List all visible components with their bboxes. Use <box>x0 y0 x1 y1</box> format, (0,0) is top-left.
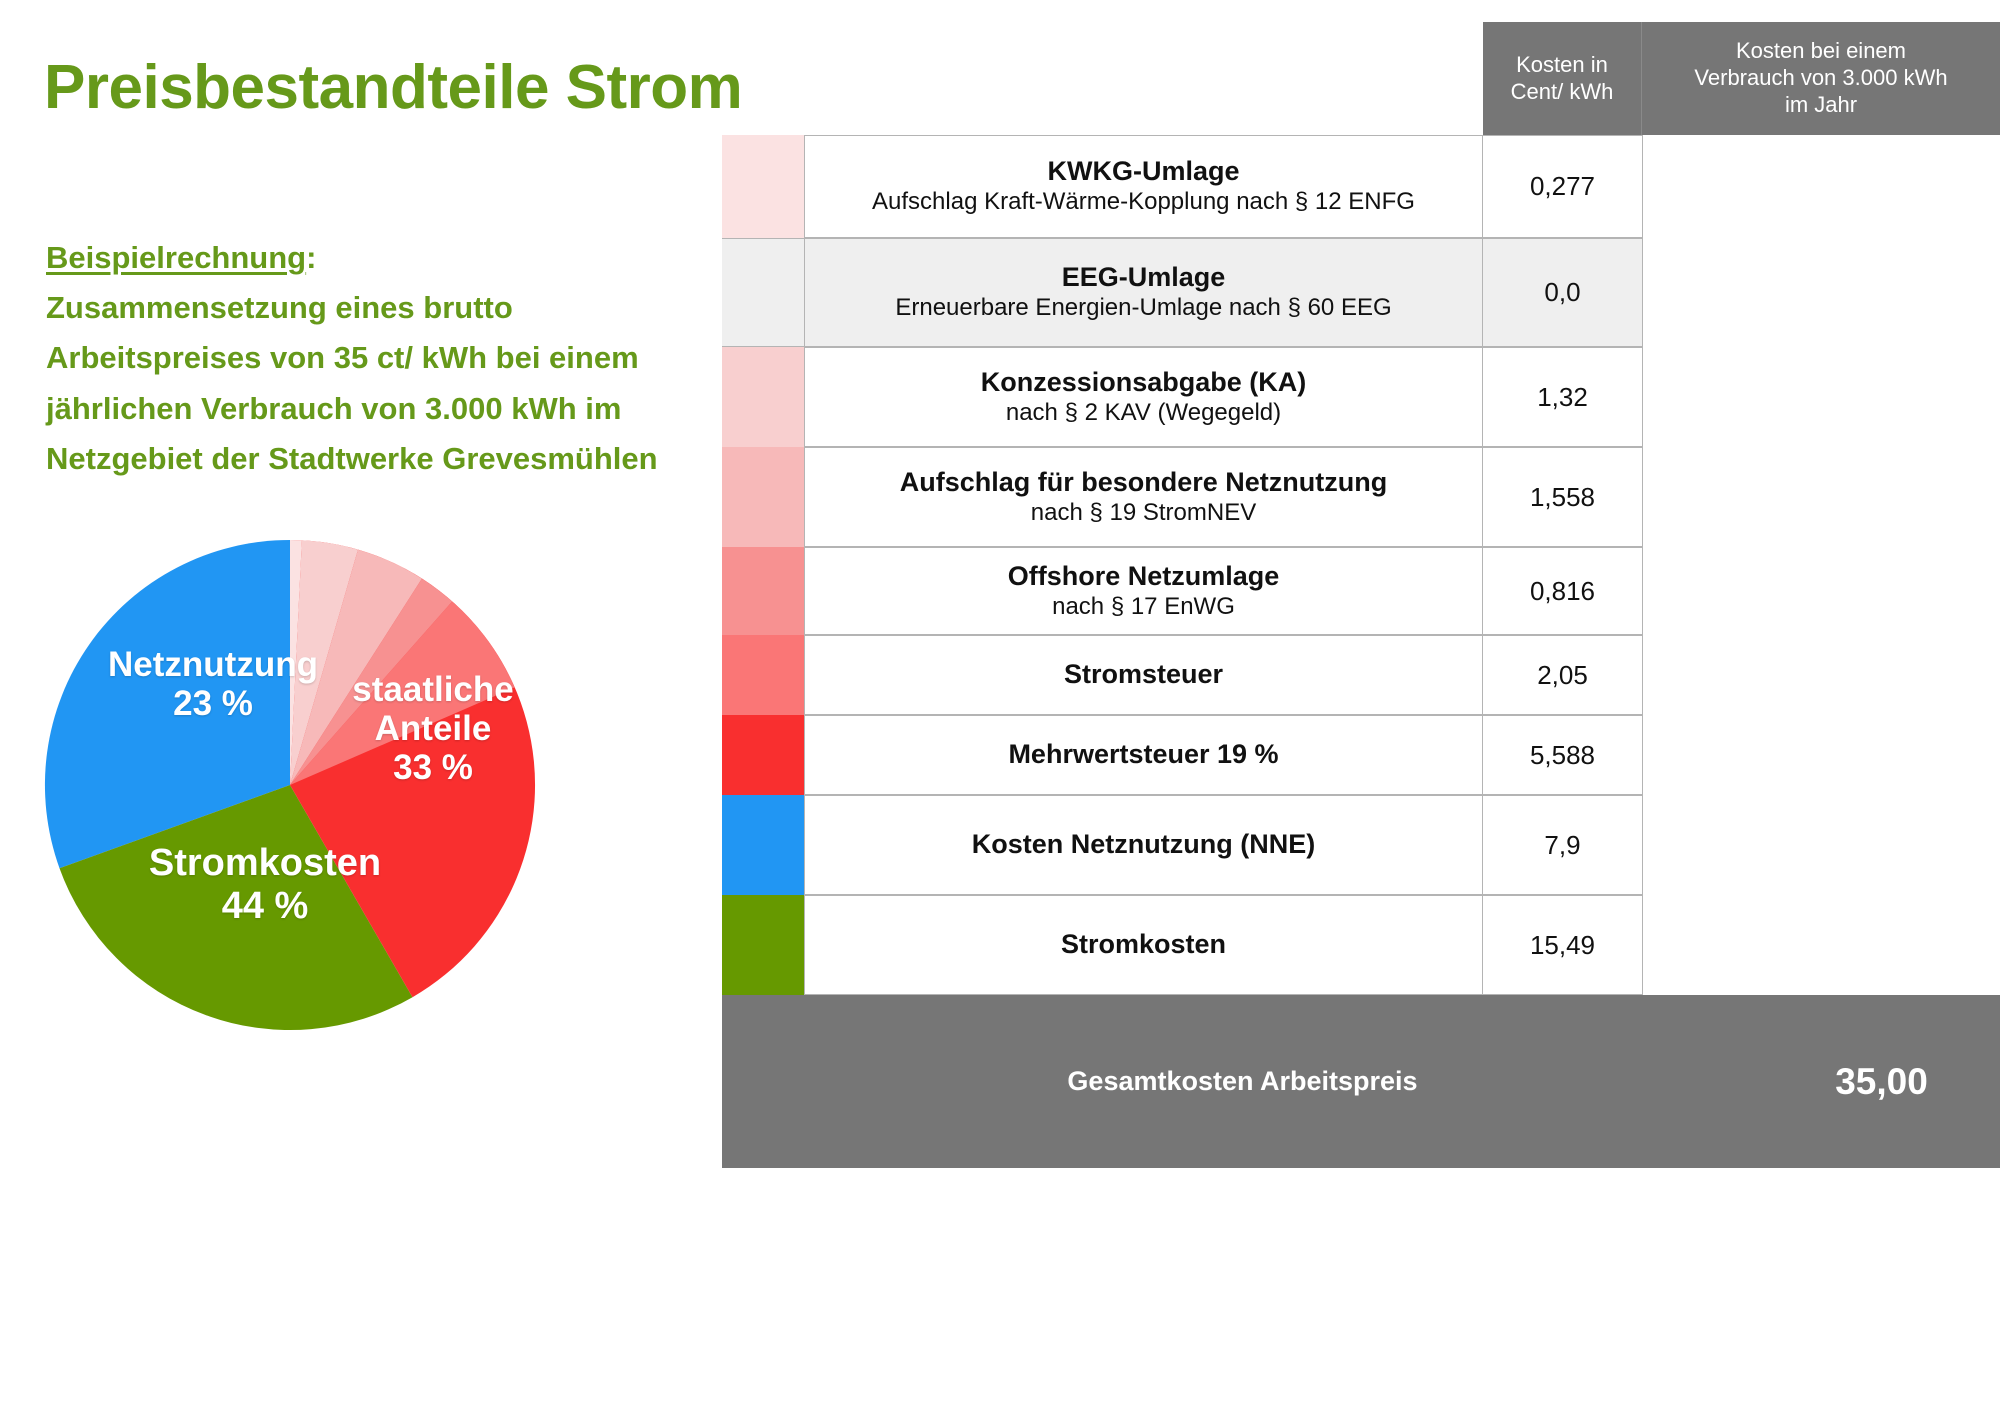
intro-lead: Beispielrechnung <box>46 240 306 275</box>
table-header-year-line1: Kosten bei einem <box>1694 38 1947 65</box>
row-label-subtitle: nach § 2 KAV (Wegegeld) <box>1006 399 1281 427</box>
table-row: EEG-UmlageErneuerbare Energien-Umlage na… <box>722 238 1643 347</box>
row-cent-value: 1,558 <box>1483 447 1643 547</box>
row-color-swatch <box>722 715 805 795</box>
row-label-cell: Aufschlag für besondere Netznutzungnach … <box>805 447 1483 547</box>
table-header-year: Kosten bei einem Verbrauch von 3.000 kWh… <box>1642 22 2000 135</box>
row-label-subtitle: nach § 17 EnWG <box>1052 593 1235 621</box>
row-label-name: Offshore Netzumlage <box>1008 561 1280 592</box>
row-label-cell: Mehrwertsteuer 19 % <box>805 715 1483 795</box>
pie-label-netznutzung-value: 23 % <box>88 684 338 723</box>
intro-text-block: Beispielrechnung: Zusammensetzung eines … <box>46 233 696 484</box>
total-row-cent: 35,00 <box>1763 1061 2000 1103</box>
table-row: Mehrwertsteuer 19 %5,588 <box>722 715 1643 795</box>
row-cent-value: 0,0 <box>1483 238 1643 347</box>
row-label-name: Konzessionsabgabe (KA) <box>981 367 1307 398</box>
table-row: KWKG-UmlageAufschlag Kraft-Wärme-Kopplun… <box>722 135 1643 238</box>
page-title: Preisbestandteile Strom <box>44 52 742 123</box>
row-color-swatch <box>722 347 805 447</box>
row-label-subtitle: Aufschlag Kraft-Wärme-Kopplung nach § 12… <box>872 188 1415 216</box>
row-cent-value: 7,9 <box>1483 795 1643 895</box>
table-header-cent-line2: Cent/ kWh <box>1511 79 1614 106</box>
pie-chart: Netznutzung 23 % staatliche Anteile 33 %… <box>40 530 540 1040</box>
table-header-cent: Kosten in Cent/ kWh <box>1483 22 1642 135</box>
row-label-subtitle: nach § 19 StromNEV <box>1031 499 1256 527</box>
table-row: Konzessionsabgabe (KA)nach § 2 KAV (Wege… <box>722 347 1643 447</box>
total-row-label: Gesamtkosten Arbeitspreis <box>722 1066 1763 1097</box>
table-row: Offshore Netzumlagenach § 17 EnWG0,816 <box>722 547 1643 635</box>
pie-label-staatliche-name-line1: staatliche <box>333 670 533 709</box>
pie-label-stromkosten-value: 44 % <box>130 885 400 928</box>
table-header-cent-line1: Kosten in <box>1511 52 1614 79</box>
pie-label-staatliche-name-line2: Anteile <box>333 709 533 748</box>
pie-label-stromkosten-name: Stromkosten <box>130 842 400 885</box>
row-label-cell: Stromsteuer <box>805 635 1483 715</box>
row-color-swatch <box>722 795 805 895</box>
row-label-cell: EEG-UmlageErneuerbare Energien-Umlage na… <box>805 238 1483 347</box>
table-row: Kosten Netznutzung (NNE)7,9 <box>722 795 1643 895</box>
intro-body: Zusammensetzung eines brutto Arbeitsprei… <box>46 290 658 476</box>
row-label-name: Stromsteuer <box>1064 659 1223 690</box>
row-color-swatch <box>722 447 805 547</box>
row-cent-value: 0,277 <box>1483 135 1643 238</box>
row-cent-value: 15,49 <box>1483 895 1643 995</box>
row-cent-value: 0,816 <box>1483 547 1643 635</box>
row-label-cell: Kosten Netznutzung (NNE) <box>805 795 1483 895</box>
row-label-name: KWKG-Umlage <box>1047 156 1239 187</box>
row-label-cell: Offshore Netzumlagenach § 17 EnWG <box>805 547 1483 635</box>
row-cent-value: 1,32 <box>1483 347 1643 447</box>
row-label-cell: Stromkosten <box>805 895 1483 995</box>
row-label-cell: Konzessionsabgabe (KA)nach § 2 KAV (Wege… <box>805 347 1483 447</box>
intro-lead-colon: : <box>306 240 316 275</box>
pie-label-staatliche-anteile: staatliche Anteile 33 % <box>333 670 533 788</box>
table-header-year-line3: im Jahr <box>1694 92 1947 119</box>
pie-label-staatliche-value: 33 % <box>333 748 533 787</box>
row-color-swatch <box>722 135 805 238</box>
row-label-subtitle: Erneuerbare Energien-Umlage nach § 60 EE… <box>895 294 1391 322</box>
table-row: Stromsteuer2,05 <box>722 635 1643 715</box>
row-color-swatch <box>722 547 805 635</box>
table-row: Aufschlag für besondere Netznutzungnach … <box>722 447 1643 547</box>
table-header-year-line2: Verbrauch von 3.000 kWh <box>1694 65 1947 92</box>
row-label-name: Aufschlag für besondere Netznutzung <box>900 467 1388 498</box>
row-color-swatch <box>722 635 805 715</box>
row-label-cell: KWKG-UmlageAufschlag Kraft-Wärme-Kopplun… <box>805 135 1483 238</box>
row-cent-value: 5,588 <box>1483 715 1643 795</box>
total-row: Gesamtkosten Arbeitspreis35,00 <box>722 995 2000 1168</box>
table-row: Stromkosten15,49 <box>722 895 1643 995</box>
row-label-name: Kosten Netznutzung (NNE) <box>972 829 1315 860</box>
row-label-name: EEG-Umlage <box>1062 262 1226 293</box>
pie-label-stromkosten: Stromkosten 44 % <box>130 842 400 927</box>
pie-label-netznutzung-name: Netznutzung <box>88 645 338 684</box>
row-label-name: Stromkosten <box>1061 929 1226 960</box>
pie-label-netznutzung: Netznutzung 23 % <box>88 645 338 723</box>
row-cent-value: 2,05 <box>1483 635 1643 715</box>
row-label-name: Mehrwertsteuer 19 % <box>1008 739 1278 770</box>
row-color-swatch <box>722 895 805 995</box>
row-color-swatch <box>722 238 805 347</box>
table-header-band: Kosten in Cent/ kWh Kosten bei einem Ver… <box>1483 22 2000 135</box>
